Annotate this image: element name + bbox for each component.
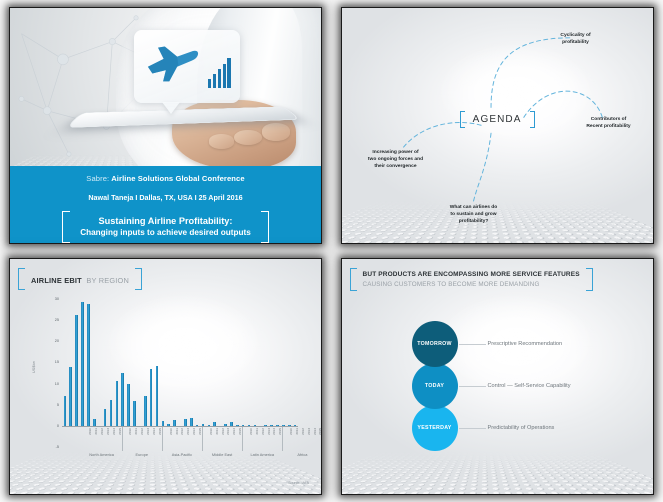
bar: [276, 425, 279, 426]
connector-contributors: [523, 91, 601, 117]
chart-title-group: AIRLINE EBIT BY REGION: [18, 268, 142, 290]
finger-3: [209, 134, 234, 148]
bar: [75, 315, 78, 426]
title-text-block: Sustaining Airline Profitability: Changi…: [70, 211, 261, 243]
bar: [93, 419, 96, 426]
x-tick-label: 2010: [289, 428, 293, 435]
bar: [242, 425, 245, 426]
x-tick-label: 2012: [100, 428, 104, 435]
x-tick-label: 2014: [192, 428, 196, 435]
group-separator: [242, 427, 243, 451]
deck-title-line2: Changing inputs to achieve desired outpu…: [80, 227, 251, 238]
y-tick-10: 10: [55, 382, 59, 386]
bar: [230, 422, 233, 426]
x-tick-label: 2014: [112, 428, 116, 435]
x-tick-label: 2010: [128, 428, 132, 435]
bar: [81, 302, 84, 426]
service-features-slide[interactable]: BUT PRODUCTS ARE ENCOMPASSING MORE SERVI…: [341, 258, 654, 495]
bar: [190, 418, 193, 426]
y-tick-15: 15: [55, 360, 59, 364]
conference-label: Airline Solutions Global Conference: [111, 174, 244, 183]
connector-today: [459, 386, 486, 387]
group-label: North America: [89, 452, 114, 457]
bar: [150, 369, 153, 426]
slide-title-group: BUT PRODUCTS ARE ENCOMPASSING MORE SERVI…: [350, 268, 593, 291]
x-tick-label: 2013: [106, 428, 110, 435]
x-tick-label: 2011: [255, 428, 259, 435]
bar: [87, 304, 90, 426]
chart-title-light: BY REGION: [86, 276, 129, 285]
x-tick-label: 2010: [249, 428, 253, 435]
title-banner: Sabre: Airline Solutions Global Conferen…: [10, 166, 321, 243]
connector-yesterday: [459, 428, 486, 429]
ebit-bar-chart: US$bn -5051015202530 2010201120122013201…: [40, 299, 298, 447]
agenda-bracket-right: [530, 111, 535, 128]
chart-source-note: Source: IATA: [288, 481, 309, 485]
slide-deck: Sabre: Airline Solutions Global Conferen…: [0, 0, 663, 502]
bar: [270, 425, 273, 426]
bar: [282, 425, 285, 426]
bar: [133, 401, 136, 426]
title-slide[interactable]: Sabre: Airline Solutions Global Conferen…: [9, 7, 322, 244]
bar: [116, 381, 119, 425]
bracket-left: [18, 268, 25, 290]
speaker-line: Nawal Taneja I Dallas, TX, USA I 25 Apri…: [10, 193, 321, 202]
timeline-circle-stack: TOMORROW TODAY YESTERDAY: [412, 321, 458, 447]
bracket-right: [135, 268, 142, 290]
bar: [254, 425, 257, 426]
y-tick-25: 25: [55, 318, 59, 322]
x-tick-label: 2014: [272, 428, 276, 435]
slide-title-line2: CAUSING CUSTOMERS TO BECOME MORE DEMANDI…: [363, 280, 580, 289]
x-tick-label: 2014: [232, 428, 236, 435]
x-tick-label: 2010: [209, 428, 213, 435]
title-bracket-group: Sustaining Airline Profitability: Changi…: [10, 211, 321, 243]
bar: [184, 419, 187, 426]
circle-today[interactable]: TODAY: [412, 363, 458, 409]
bar: [248, 425, 251, 426]
bar: [288, 425, 291, 426]
x-tick-label: 2013: [307, 428, 311, 435]
x-tick-label: 2010: [169, 428, 173, 435]
bar: [167, 424, 170, 426]
group-label: Europe: [135, 452, 148, 457]
bar: [69, 367, 72, 426]
circle-yesterday[interactable]: YESTERDAY: [412, 405, 458, 451]
deck-title-line1: Sustaining Airline Profitability:: [80, 215, 251, 227]
bar: [173, 420, 176, 425]
y-axis-title: US$bn: [32, 361, 36, 373]
group-label: Latin America: [250, 452, 274, 457]
title-slide-photo: [10, 8, 321, 166]
x-tick-label: 2014: [313, 428, 317, 435]
connector-tomorrow: [459, 344, 486, 345]
group-label: Africa: [297, 452, 307, 457]
x-tick-label: 2011: [215, 428, 219, 435]
bar: [121, 373, 124, 425]
circle-tomorrow-label: TOMORROW: [417, 341, 452, 347]
bar-chart-icon: [208, 58, 230, 89]
connector-cyclicality: [491, 38, 570, 108]
slide-cell-4: BUT PRODUCTS ARE ENCOMPASSING MORE SERVI…: [331, 251, 663, 502]
x-tick-label: 2011: [134, 428, 138, 435]
group-label: Middle East: [212, 452, 232, 457]
brand-label: Sabre:: [86, 174, 109, 183]
x-tick-label: 2012: [140, 428, 144, 435]
bar: [294, 425, 297, 426]
group-label: Asia-Pacific: [172, 452, 192, 457]
slide-title-line1: BUT PRODUCTS ARE ENCOMPASSING MORE SERVI…: [363, 270, 580, 280]
bar: [162, 421, 165, 426]
x-tick-label: 2011: [295, 428, 299, 435]
x-tick-label: 2012: [301, 428, 305, 435]
circle-yesterday-label: YESTERDAY: [417, 425, 451, 431]
x-tick-label: 2012: [261, 428, 265, 435]
bar: [144, 396, 147, 426]
chart-slide[interactable]: AIRLINE EBIT BY REGION US$bn -5051015202…: [9, 258, 322, 495]
bar: [196, 425, 199, 426]
x-tick-label: 2014: [152, 428, 156, 435]
y-axis: -5051015202530: [40, 299, 62, 447]
mesh-dot-floor: [9, 452, 322, 495]
text-yesterday: Predictability of Operations: [488, 425, 555, 431]
group-separator: [202, 427, 203, 451]
x-tick-label: 2011: [175, 428, 179, 435]
bar: [110, 400, 113, 426]
y-tick-30: 30: [55, 297, 59, 301]
slide-cell-2: AGENDA Cyclicality of profitability Cont…: [331, 0, 663, 251]
x-tick-label: 2013: [226, 428, 230, 435]
agenda-slide[interactable]: AGENDA Cyclicality of profitability Cont…: [341, 7, 654, 244]
bracket-left: [350, 268, 357, 291]
bar: [156, 366, 159, 426]
x-tick-label: 2012: [221, 428, 225, 435]
bar: [264, 425, 267, 426]
y-tick-0: 0: [57, 424, 59, 428]
plot-area: 2010201120122013201420152010201120122013…: [62, 299, 298, 447]
x-tick-label: 2013: [186, 428, 190, 435]
x-tick-label: 2013: [267, 428, 271, 435]
slide-cell-3: AIRLINE EBIT BY REGION US$bn -5051015202…: [0, 251, 331, 502]
agenda-item-increasing-power[interactable]: Increasing power of two ongoing forces a…: [350, 149, 442, 170]
x-tick-label: 2012: [180, 428, 184, 435]
conference-line: Sabre: Airline Solutions Global Conferen…: [10, 174, 321, 183]
x-tick-label: 2010: [88, 428, 92, 435]
y-tick--5: -5: [56, 445, 59, 449]
callout-bubble: [134, 30, 240, 103]
bracket-left: [62, 211, 70, 243]
finger-1: [262, 123, 290, 140]
bracket-right: [261, 211, 269, 243]
agenda-label: AGENDA: [465, 114, 530, 125]
chart-title-strong: AIRLINE EBIT: [31, 276, 82, 285]
circle-today-label: TODAY: [425, 383, 444, 389]
group-separator: [282, 427, 283, 451]
y-tick-5: 5: [57, 403, 59, 407]
bar: [64, 396, 67, 426]
agenda-item-cyclicality[interactable]: Cyclicality of profitability: [540, 32, 612, 46]
bar: [208, 425, 211, 426]
agenda-center: AGENDA: [460, 111, 535, 128]
slide-title-text: BUT PRODUCTS ARE ENCOMPASSING MORE SERVI…: [357, 268, 586, 291]
bar: [202, 424, 205, 426]
x-tick-label: 2015: [318, 428, 322, 435]
bar: [127, 384, 130, 425]
x-tick-label: 2011: [94, 428, 98, 435]
bar: [224, 424, 227, 426]
x-tick-label: 2013: [146, 428, 150, 435]
bracket-right: [586, 268, 593, 291]
slide-cell-1: Sabre: Airline Solutions Global Conferen…: [0, 0, 331, 251]
circle-tomorrow[interactable]: TOMORROW: [412, 321, 458, 367]
agenda-item-what-can-airlines-do[interactable]: What can airlines do to sustain and grow…: [426, 204, 522, 225]
chart-title-text: AIRLINE EBIT BY REGION: [25, 268, 135, 290]
text-today: Control — Self-Service Capability: [488, 383, 571, 389]
bar: [236, 425, 239, 426]
text-tomorrow: Prescriptive Recommendation: [488, 341, 563, 347]
agenda-item-contributors[interactable]: Contributors of Recent profitability: [568, 116, 650, 130]
group-separator: [162, 427, 163, 451]
y-tick-20: 20: [55, 339, 59, 343]
bars-layer: [62, 299, 298, 447]
connector-what-can-airlines: [473, 133, 491, 203]
bar: [213, 422, 216, 425]
bar: [104, 409, 107, 426]
group-separator: [122, 427, 123, 451]
airplane-icon: [142, 42, 203, 87]
